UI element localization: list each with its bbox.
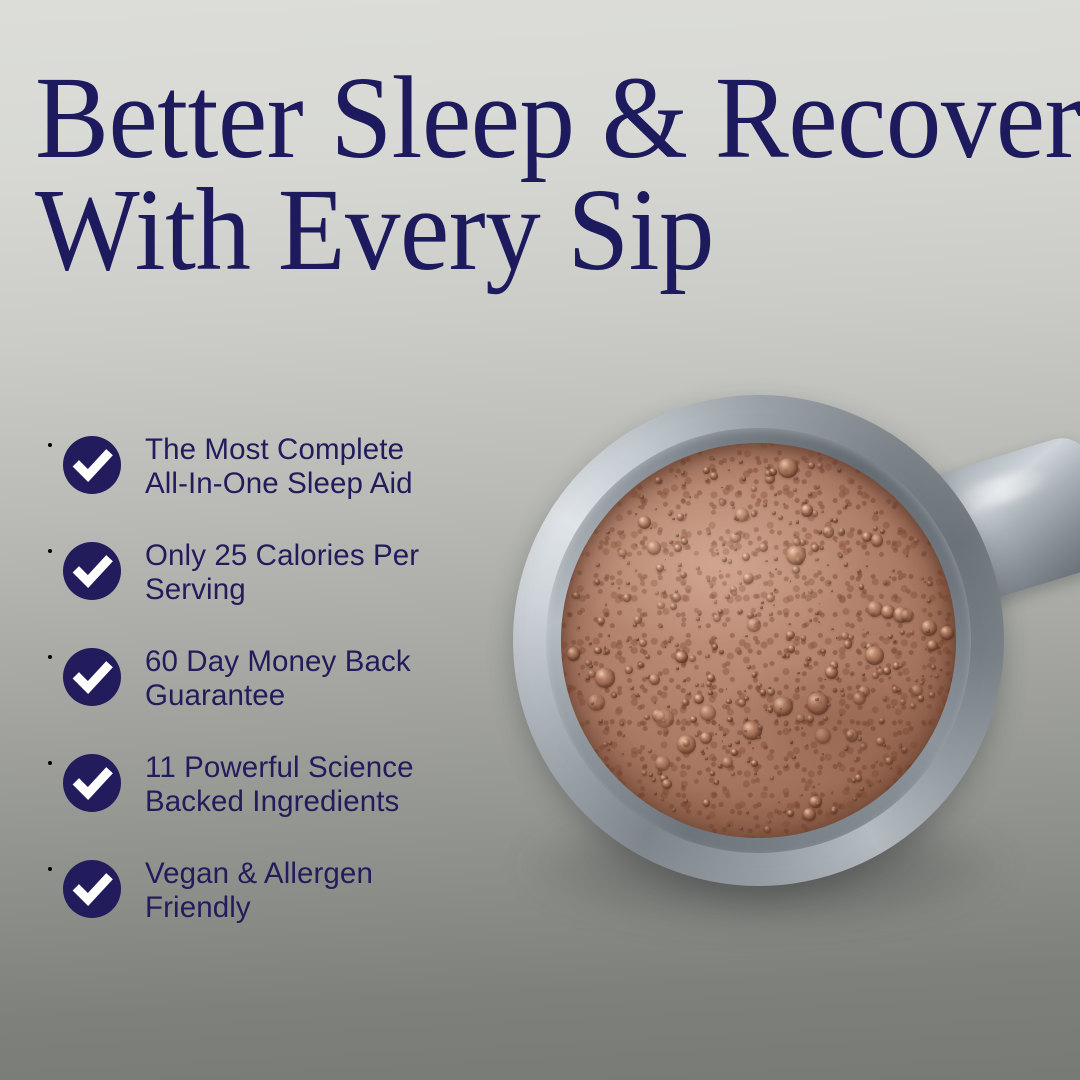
- foam-bubble: [705, 757, 707, 759]
- foam-bubble: [786, 631, 795, 640]
- foam-bubble: [636, 638, 639, 641]
- foam-bubble: [672, 593, 681, 602]
- foam-bubble: [731, 749, 738, 756]
- benefit-text: Vegan & Allergen Friendly: [145, 857, 535, 924]
- foam-bubble: [790, 580, 792, 582]
- foam-bubble: [900, 699, 906, 705]
- foam-bubble: [793, 488, 797, 492]
- foam-bubble: [818, 783, 820, 785]
- foam-bubble: [634, 616, 643, 625]
- foam-bubble: [722, 543, 725, 546]
- foam-bubble: [783, 809, 787, 813]
- foam-bubble: [740, 827, 743, 830]
- foam-bubble: [804, 662, 808, 666]
- foam-bubble: [784, 722, 788, 726]
- foam-bubble: [638, 516, 652, 530]
- foam-bubble: [646, 675, 650, 679]
- foam-bubble: [719, 570, 721, 572]
- foam-bubble: [683, 679, 686, 682]
- foam-bubble: [738, 699, 746, 707]
- foam-bubble: [710, 771, 715, 776]
- foam-bubble: [595, 668, 615, 688]
- foam-bubble: [811, 544, 819, 552]
- foam-bubble: [764, 826, 771, 833]
- headline-line-2: With Every Sip: [35, 174, 1003, 286]
- foam-bubble: [672, 518, 675, 521]
- benefit-line-1: 11 Powerful Science: [145, 751, 414, 784]
- foam-bubble: [888, 676, 892, 680]
- foam-bubble: [877, 668, 885, 676]
- foam-bubble: [774, 588, 777, 591]
- foam-bubble: [635, 544, 637, 546]
- foam-bubble: [747, 665, 751, 669]
- foam-bubble: [735, 508, 749, 522]
- foam-bubble: [833, 689, 837, 693]
- benefit-line-2: Serving: [145, 573, 246, 606]
- foam-bubble: [799, 539, 806, 546]
- list-item: The Most Complete All-In-One Sleep Aid: [63, 436, 533, 542]
- foam-bubble: [719, 499, 726, 506]
- foam-bubble: [652, 778, 656, 782]
- foam-bubble: [734, 532, 738, 536]
- benefits-list: The Most Complete All-In-One Sleep Aid O…: [63, 436, 533, 966]
- foam-bubble: [720, 650, 724, 654]
- foam-bubble: [831, 808, 837, 814]
- foam-bubble: [718, 724, 720, 726]
- foam-bubble: [873, 526, 878, 531]
- foam-bubble: [705, 478, 709, 482]
- foam-bubble: [677, 719, 679, 721]
- foam-bubble: [607, 748, 610, 751]
- foam-bubble: [778, 711, 780, 713]
- foam-bubble: [853, 692, 866, 705]
- foam-bubble: [803, 808, 816, 821]
- foam-bubble: [623, 555, 625, 557]
- foam-bubble: [766, 594, 774, 602]
- foam-bubble: [676, 534, 679, 537]
- foam-bubble: [654, 701, 656, 703]
- foam-bubble: [883, 667, 891, 675]
- check-icon: [63, 542, 121, 600]
- foam-bubble: [883, 697, 887, 701]
- foam-bubble: [789, 521, 793, 525]
- foam-bubble: [603, 651, 607, 655]
- foam-bubble: [655, 508, 657, 510]
- foam-bubble: [752, 747, 754, 749]
- foam-bubble: [747, 612, 754, 619]
- foam-bubble: [920, 681, 924, 685]
- foam-bubble: [595, 579, 601, 585]
- foam-bubble: [879, 718, 885, 724]
- foam-bubble: [687, 692, 691, 696]
- foam-bubble: [760, 689, 767, 696]
- foam-bubble: [846, 729, 859, 742]
- foam-bubble: [713, 458, 715, 460]
- foam-bubble: [713, 614, 721, 622]
- foam-bubble: [667, 705, 670, 708]
- foam-bubble: [815, 698, 818, 701]
- foam-bubble: [914, 538, 920, 544]
- foam-bubble: [922, 675, 924, 677]
- foam-bubble: [605, 603, 608, 606]
- foam-bubble: [827, 564, 829, 566]
- foam-bubble: [759, 543, 768, 552]
- foam-bubble: [754, 772, 757, 775]
- foam-bubble: [642, 770, 647, 775]
- foam-bubble: [788, 645, 795, 652]
- foam-bubble: [786, 635, 792, 641]
- foam-bubble: [833, 518, 838, 523]
- benefit-line-2: Friendly: [145, 891, 251, 924]
- foam-bubble: [722, 757, 733, 768]
- foam-bubble: [701, 749, 704, 752]
- foam-bubble: [869, 784, 871, 786]
- foam-bubble: [796, 520, 800, 524]
- foam-bubble: [807, 657, 811, 661]
- check-icon: [63, 754, 121, 812]
- foam-bubble: [765, 560, 767, 562]
- foam-bubble: [710, 472, 718, 480]
- foam-bubble: [589, 665, 593, 669]
- foam-bubble: [790, 740, 793, 743]
- foam-bubble: [761, 601, 764, 604]
- foam-bubble: [843, 505, 846, 508]
- foam-bubble: [812, 785, 815, 788]
- foam-bubble: [900, 630, 905, 635]
- foam-bubble: [732, 591, 737, 596]
- foam-bubble: [940, 668, 943, 671]
- foam-bubble: [921, 577, 924, 580]
- benefit-line-1: Vegan & Allergen: [145, 857, 373, 890]
- foam-bubble: [927, 599, 931, 603]
- foam-bubble: [630, 686, 634, 690]
- foam-bubble: [765, 474, 776, 485]
- foam-bubble: [769, 612, 773, 616]
- foam-bubble: [852, 778, 856, 782]
- foam-bubble: [765, 746, 767, 748]
- foam-bubble: [858, 686, 870, 698]
- foam-bubble: [835, 541, 837, 543]
- foam-bubble: [780, 708, 782, 710]
- foam-bubble: [635, 693, 639, 697]
- foam-bubble: [836, 637, 838, 639]
- foam-bubble: [718, 609, 723, 614]
- foam-bubble: [927, 581, 933, 587]
- foam-bubble: [844, 747, 849, 752]
- foam-bubble: [705, 654, 709, 658]
- foam-bubble: [881, 605, 895, 619]
- foam-bubble: [831, 791, 834, 794]
- foam-bubble: [860, 787, 864, 791]
- foam-bubble: [851, 673, 853, 675]
- foam-bubble: [899, 743, 902, 746]
- foam-bubble: [817, 463, 823, 469]
- foam-bubble: [915, 679, 918, 682]
- foam-bubble: [890, 767, 892, 769]
- foam-bubble: [703, 799, 711, 807]
- foam-bubble: [670, 603, 677, 610]
- foam-bubble: [783, 503, 785, 505]
- foam-bubble: [880, 529, 885, 534]
- foam-bubble: [820, 546, 824, 550]
- foam-bubble: [831, 590, 833, 592]
- foam-bubble: [723, 559, 726, 562]
- foam-bubble: [792, 566, 800, 574]
- foam-bubble: [660, 775, 668, 783]
- foam-bubble: [831, 628, 834, 631]
- foam-bubble: [707, 579, 710, 582]
- foam-bubble: [745, 717, 748, 720]
- foam-bubble: [742, 553, 750, 561]
- foam-bubble: [936, 646, 940, 650]
- foam-bubble: [604, 646, 607, 649]
- foam-bubble: [608, 741, 612, 745]
- foam-bubble: [698, 613, 701, 616]
- foam-bubble: [702, 752, 706, 756]
- foam-bubble: [706, 747, 708, 749]
- foam-bubble: [567, 647, 581, 661]
- foam-bubble: [867, 601, 883, 617]
- foam-bubble: [731, 503, 734, 506]
- foam-bubble: [892, 706, 894, 708]
- foam-bubble: [606, 531, 610, 535]
- foam-bubble: [823, 716, 828, 721]
- foam-bubble: [815, 728, 831, 744]
- foam-bubble: [816, 802, 820, 806]
- foam-bubble: [758, 725, 763, 730]
- foam-bubble: [603, 742, 608, 747]
- foam-bubble: [689, 496, 691, 498]
- foam-bubble: [751, 511, 757, 517]
- foam-bubble: [801, 635, 807, 641]
- foam-bubble: [773, 697, 792, 716]
- foam-bubble: [777, 713, 781, 717]
- foam-bubble: [645, 654, 650, 659]
- foam-bubble: [689, 655, 696, 662]
- foam-bubble: [788, 623, 791, 626]
- foam-bubble: [639, 639, 647, 647]
- foam-bubble: [659, 771, 663, 775]
- benefit-text: 11 Powerful Science Backed Ingredients: [145, 751, 535, 818]
- foam-bubble: [924, 581, 926, 583]
- foam-bubble: [807, 715, 815, 723]
- foam-bubble: [806, 744, 808, 746]
- foam-bubble: [735, 740, 739, 744]
- foam-bubble: [708, 691, 712, 695]
- foam-bubble: [629, 646, 632, 649]
- foam-bubble: [872, 672, 879, 679]
- foam-bubble: [718, 764, 722, 768]
- foam-bubble: [637, 695, 640, 698]
- foam-bubble: [864, 646, 866, 648]
- check-icon: [63, 648, 121, 706]
- foam-bubble: [921, 620, 937, 636]
- foam-bubble: [784, 764, 788, 768]
- foam-bubble: [684, 799, 688, 803]
- mug-rim-highlight: [513, 395, 1004, 886]
- foam-bubble: [726, 688, 728, 690]
- foam-bubble: [775, 568, 777, 570]
- foam-bubble: [722, 740, 724, 742]
- foam-bubble: [707, 674, 715, 682]
- foam-bubble: [819, 603, 821, 605]
- foam-bubble: [680, 572, 687, 579]
- foam-bubble: [743, 573, 754, 584]
- foam-bubble: [585, 660, 592, 667]
- foam-bubble: [833, 664, 838, 669]
- foam-bubble: [700, 705, 716, 721]
- foam-bubble: [710, 584, 713, 587]
- list-item: 60 Day Money Back Guarantee: [63, 648, 533, 754]
- mug-body: [513, 395, 1004, 886]
- foam-bubble: [839, 528, 845, 534]
- foam-bubble: [731, 772, 735, 776]
- foam-bubble: [621, 530, 624, 533]
- foam-bubble: [809, 619, 812, 622]
- foam-bubble: [841, 692, 845, 696]
- foam-bubble: [626, 582, 630, 586]
- foam-bubble: [778, 515, 784, 521]
- foam-bubble: [853, 797, 857, 801]
- foam-bubble: [721, 487, 723, 489]
- foam-bubble: [855, 774, 862, 781]
- foam-bubble: [821, 510, 824, 513]
- foam-bubble: [815, 558, 819, 562]
- foam-bubble: [715, 637, 717, 639]
- foam-bubble: [816, 485, 820, 489]
- foam-bubble: [742, 477, 746, 481]
- foam-bubble: [756, 621, 759, 624]
- foam-bubble: [793, 538, 802, 547]
- foam-bubble: [794, 534, 796, 536]
- foam-bubble: [772, 511, 776, 515]
- foam-bubble: [621, 753, 624, 756]
- foam-bubble: [861, 691, 864, 694]
- foam-bubble: [748, 741, 751, 744]
- foam-bubble: [768, 687, 771, 690]
- foam-bubble: [858, 737, 861, 740]
- foam-bubble: [862, 532, 872, 542]
- foam-bubble: [618, 549, 627, 558]
- foam-bubble: [765, 465, 770, 470]
- mug-inner-rim: [546, 428, 971, 853]
- foam-bubble: [605, 649, 610, 654]
- foam-bubble: [737, 740, 741, 744]
- foam-bubble: [635, 513, 637, 515]
- foam-bubble: [775, 719, 778, 722]
- foam-bubble: [769, 571, 772, 574]
- foam-bubble: [694, 694, 704, 704]
- foam-bubble: [937, 646, 939, 648]
- foam-bubble: [889, 576, 891, 578]
- foam-bubble: [730, 586, 737, 593]
- benefit-line-1: The Most Complete: [145, 433, 404, 466]
- foam-bubble: [822, 653, 825, 656]
- foam-bubble: [589, 642, 592, 645]
- foam-bubble: [808, 462, 815, 469]
- foam-bubble: [608, 634, 611, 637]
- foam-bubble: [727, 717, 732, 722]
- foam-bubble: [578, 673, 580, 675]
- foam-bubble: [828, 581, 832, 585]
- foam-bubble: [892, 686, 899, 693]
- foam-bubble: [752, 672, 758, 678]
- foam-bubble: [666, 730, 669, 733]
- foam-bubble: [769, 468, 778, 477]
- foam-bubble: [751, 760, 758, 767]
- foam-bubble: [824, 679, 826, 681]
- foam-bubble: [701, 683, 704, 686]
- foam-bubble: [866, 643, 873, 650]
- foam-bubble: [768, 707, 774, 713]
- mug-handle: [924, 431, 1080, 608]
- foam-bubble: [625, 666, 633, 674]
- foam-bubble: [899, 745, 902, 748]
- check-icon: [63, 860, 121, 918]
- foam-bubble: [669, 540, 673, 544]
- foam-bubble: [892, 569, 895, 572]
- foam-bubble: [770, 776, 774, 780]
- foam-bubble: [884, 582, 888, 586]
- foam-bubble: [888, 634, 893, 639]
- foam-bubble: [575, 591, 579, 595]
- foam-bubble: [925, 648, 927, 650]
- foam-bubble: [840, 714, 842, 716]
- foam-bubble: [707, 531, 711, 535]
- foam-bubble: [765, 470, 772, 477]
- foam-bubble: [683, 739, 691, 747]
- foam-bubble: [763, 503, 767, 507]
- foam-bubble: [757, 736, 761, 740]
- foam-bubble: [782, 654, 786, 658]
- foam-bubble: [747, 618, 761, 632]
- foam-bubble: [725, 594, 729, 598]
- foam-bubble: [877, 779, 881, 783]
- foam-bubble: [778, 801, 780, 803]
- foam-bubble: [854, 758, 858, 762]
- foam-bubble: [690, 716, 697, 723]
- foam-bubble: [871, 534, 884, 547]
- promo-graphic: Better Sleep & Recovery With Every Sip T…: [0, 0, 1080, 1080]
- foam-bubble: [893, 662, 901, 670]
- foam-bubble: [829, 529, 832, 532]
- foam-bubble: [623, 594, 631, 602]
- foam-bubble: [649, 674, 660, 685]
- foam-bubble: [620, 722, 624, 726]
- foam-bubble: [885, 757, 893, 765]
- foam-bubble: [682, 785, 684, 787]
- foam-bubble: [897, 688, 902, 693]
- foam-bubble: [835, 676, 839, 680]
- foam-bubble: [831, 806, 838, 813]
- foam-bubble: [885, 758, 888, 761]
- foam-bubble: [739, 460, 743, 464]
- foam-bubble: [801, 504, 814, 517]
- foam-bubble: [808, 509, 811, 512]
- benefit-line-2: Backed Ingredients: [145, 785, 399, 818]
- foam-bubble: [677, 568, 681, 572]
- foam-bubble: [657, 602, 664, 609]
- foam-bubble: [807, 692, 829, 714]
- foam-bubble: [942, 631, 944, 633]
- foam-bubble: [738, 609, 743, 614]
- foam-bubble: [679, 745, 681, 747]
- foam-bubble: [664, 569, 666, 571]
- foam-bubble: [818, 621, 820, 623]
- foam-bubble: [747, 759, 751, 763]
- foam-bubble: [635, 569, 637, 571]
- foam-bubble: [626, 639, 630, 643]
